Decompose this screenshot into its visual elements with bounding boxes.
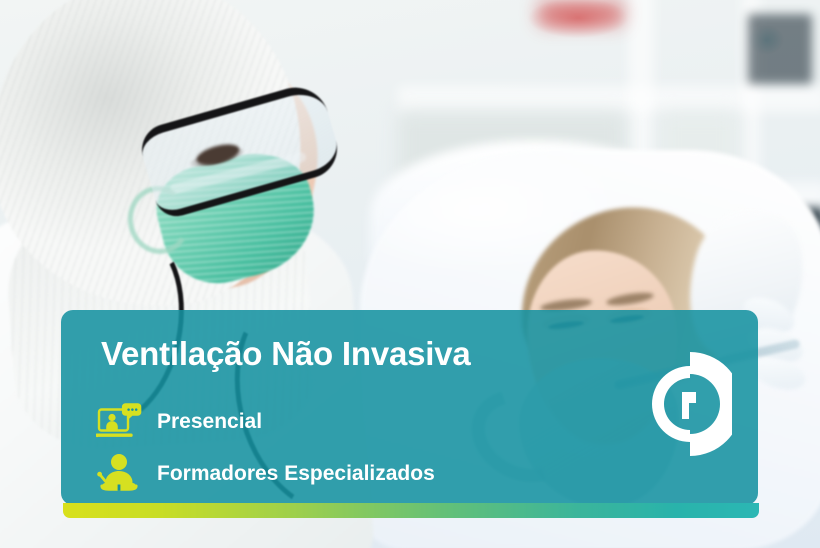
webinar-laptop-icon bbox=[95, 400, 143, 444]
instructor-icon bbox=[95, 452, 143, 496]
feature-label-presencial: Presencial bbox=[157, 410, 262, 434]
circular-brand-logo bbox=[648, 352, 732, 456]
banner-stage: Ventilação Não Invasiva bbox=[0, 0, 820, 548]
page-title: Ventilação Não Invasiva bbox=[101, 337, 471, 370]
monitor-screen-top bbox=[748, 14, 812, 84]
red-chart-on-wall bbox=[538, 0, 624, 26]
feature-item-presencial: Presencial bbox=[95, 398, 655, 446]
promo-card: Ventilação Não Invasiva bbox=[61, 310, 758, 505]
feature-item-formadores: Formadores Especializados bbox=[95, 450, 655, 498]
accent-gradient-bar bbox=[63, 503, 759, 518]
feature-list: Presencial bbox=[95, 398, 655, 498]
feature-label-formadores: Formadores Especializados bbox=[157, 462, 435, 486]
